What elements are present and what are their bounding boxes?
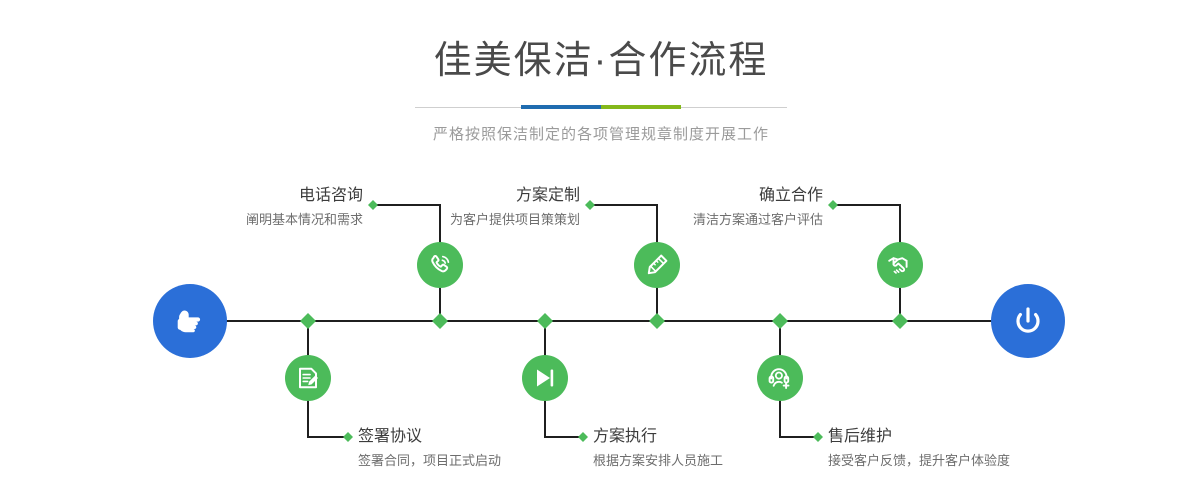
axis-diamond-6 (892, 313, 908, 329)
step-title-5: 确立合作 (523, 186, 823, 206)
axis-diamond-3 (537, 313, 553, 329)
handshake-icon (886, 251, 914, 279)
phone-call-icon (427, 252, 453, 278)
label-diamond-5 (828, 200, 838, 210)
power-icon (1008, 301, 1048, 341)
end-node[interactable] (991, 284, 1065, 358)
step-node-2[interactable] (285, 355, 331, 401)
label-diamond-2 (343, 432, 353, 442)
support-agent-icon (767, 365, 793, 391)
pencil-ruler-icon (644, 252, 670, 278)
start-node[interactable] (153, 284, 227, 358)
play-skip-icon (532, 365, 558, 391)
step-node-3[interactable] (634, 242, 680, 288)
pointing-hand-icon (170, 301, 210, 341)
step-node-4[interactable] (522, 355, 568, 401)
step-desc-6: 接受客户反馈，提升客户体验度 (828, 452, 1168, 470)
axis-diamond-1 (300, 313, 316, 329)
step-node-1[interactable] (417, 242, 463, 288)
flow-diagram-page: 佳美保洁·合作流程 严格按照保洁制定的各项管理规章制度开展工作 (0, 0, 1202, 502)
step-desc-5: 清洁方案通过客户评估 (523, 211, 823, 229)
step-node-5[interactable] (877, 242, 923, 288)
axis-diamond-5 (772, 313, 788, 329)
axis-diamond-4 (649, 313, 665, 329)
step-label-6: 售后维护 接受客户反馈，提升客户体验度 (828, 427, 1168, 470)
document-edit-icon (295, 365, 321, 391)
step-node-6[interactable] (757, 355, 803, 401)
step-label-5: 确立合作 清洁方案通过客户评估 (523, 186, 823, 229)
axis-diamond-2 (432, 313, 448, 329)
step-title-6: 售后维护 (828, 427, 1168, 447)
